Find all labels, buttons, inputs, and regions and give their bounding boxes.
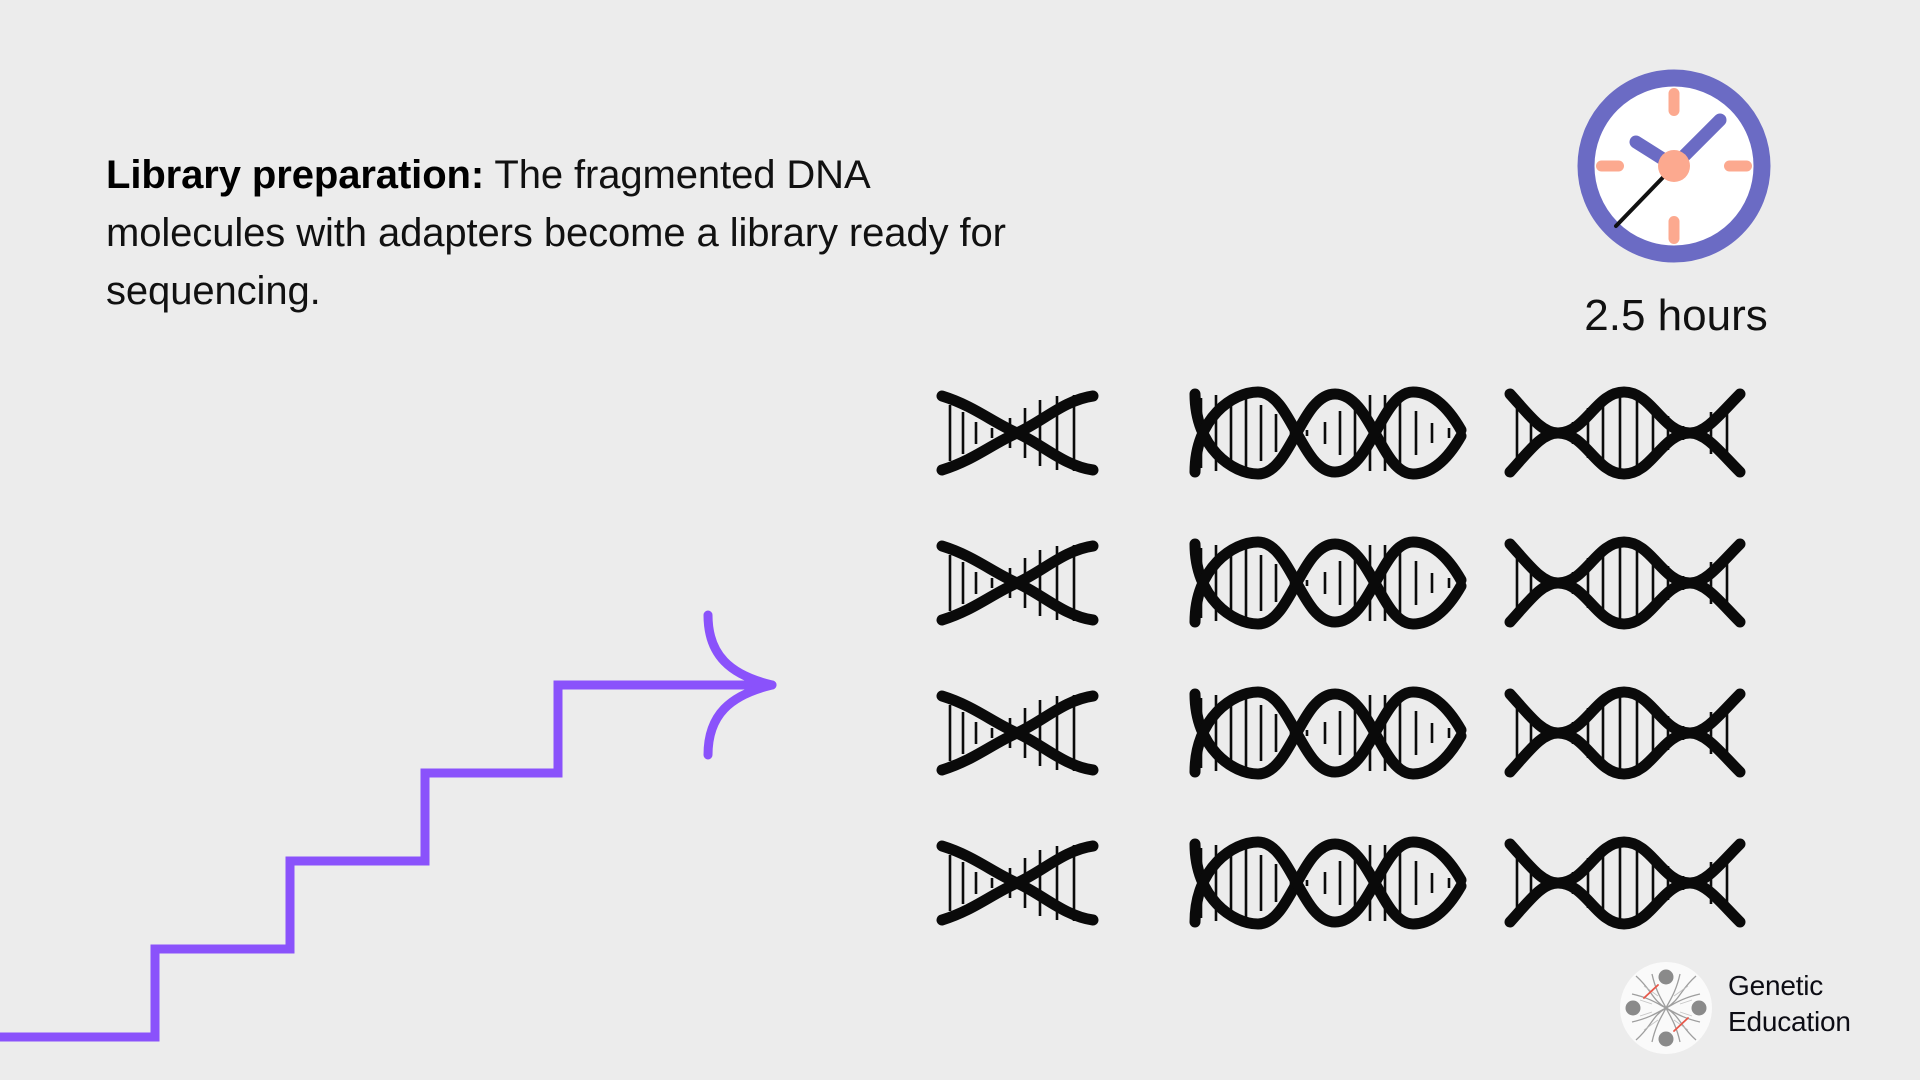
arrowhead-lower-curve [708, 685, 772, 755]
logo-node-left [1626, 1001, 1641, 1016]
dna-helix-icon [1185, 678, 1470, 788]
logo-node-top [1659, 970, 1674, 985]
dna-library-grid [930, 378, 1720, 943]
dna-helix-icon [930, 828, 1105, 938]
brand-name: Genetic Education [1728, 968, 1898, 1040]
clock-center-hub [1658, 150, 1690, 182]
dna-helix-icon [1500, 528, 1750, 638]
brand-name-line1: Genetic [1728, 968, 1898, 1004]
clock-tick-9 [1596, 161, 1624, 172]
dna-helix-icon [1185, 528, 1470, 638]
stair-step-arrow-icon [0, 595, 820, 1080]
duration-label: 2.5 hours [1536, 290, 1816, 342]
step-title: Library preparation: [106, 153, 484, 197]
dna-helix-icon [930, 678, 1105, 788]
dna-helix-icon [1185, 828, 1470, 938]
brand-logo: Genetic Education [1618, 958, 1878, 1062]
step-description: Library preparation: The fragmented DNA … [106, 146, 1026, 320]
logo-node-bottom [1659, 1032, 1674, 1047]
arrowhead-upper-curve [708, 615, 772, 685]
brand-name-line2: Education [1728, 1004, 1898, 1040]
dna-grid-row [930, 378, 1720, 488]
clock-tick-12 [1669, 88, 1680, 116]
dna-grid-row [930, 528, 1720, 638]
dna-grid-row [930, 678, 1720, 788]
infographic-canvas: Library preparation: The fragmented DNA … [0, 0, 1920, 1080]
dna-helix-icon [1500, 378, 1750, 488]
stair-path [0, 685, 768, 1037]
dna-helix-icon [1500, 828, 1750, 938]
dna-grid-row [930, 828, 1720, 938]
duration-indicator: 2.5 hours [1570, 62, 1820, 337]
logo-node-right [1692, 1001, 1707, 1016]
genetic-education-dna-lattice-logo-icon [1618, 960, 1714, 1056]
dna-helix-icon [930, 378, 1105, 488]
clock-tick-3 [1724, 161, 1752, 172]
dna-helix-icon [1185, 378, 1470, 488]
dna-helix-icon [1500, 678, 1750, 788]
clock-tick-6 [1669, 216, 1680, 244]
clock-icon [1570, 62, 1778, 270]
dna-helix-icon [930, 528, 1105, 638]
